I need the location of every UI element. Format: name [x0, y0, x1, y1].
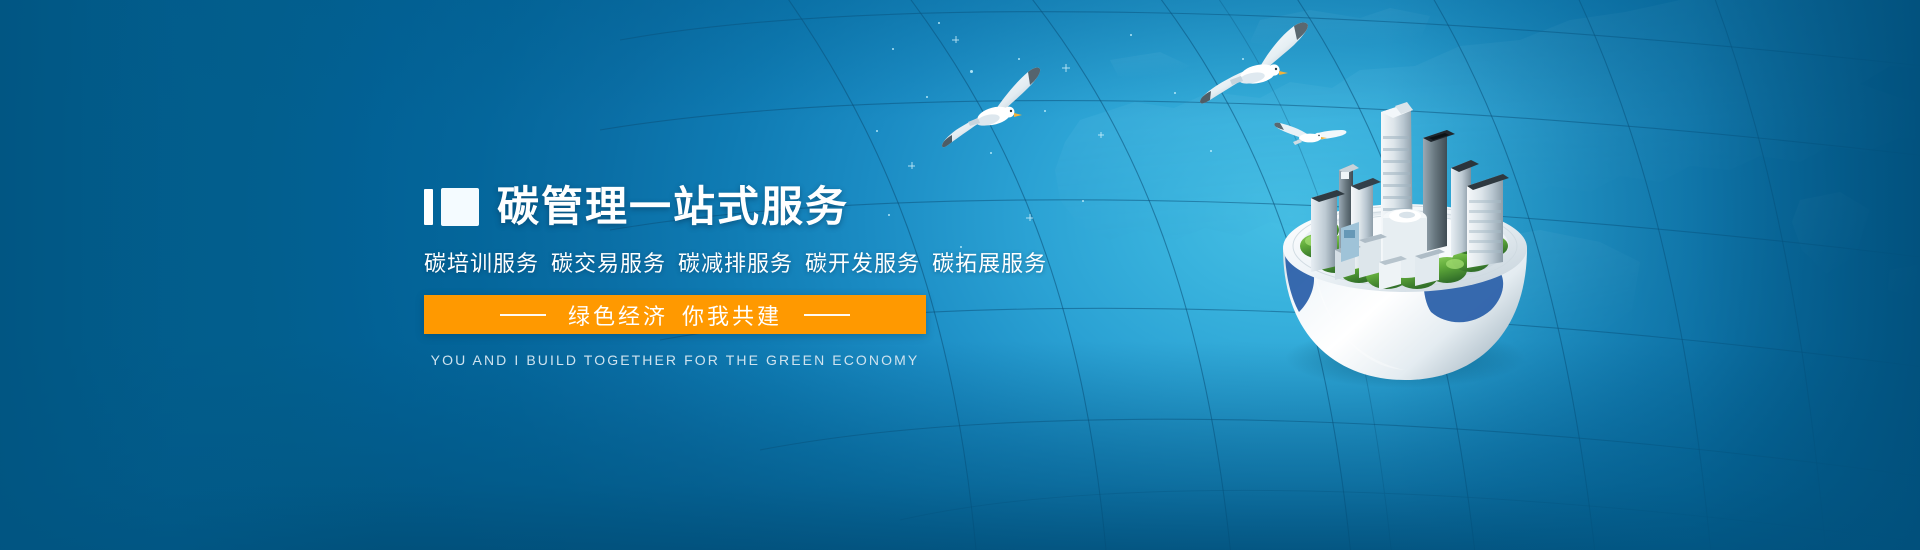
slogan-right-dash-icon [804, 314, 850, 316]
service-item: 碳培训服务 [424, 252, 539, 277]
bar-and-square-mark-icon [424, 188, 479, 226]
slogan-text: 绿色经济你我共建 [568, 299, 782, 331]
hero-banner: 碳管理一站式服务 碳培训服务碳交易服务碳减排服务碳开发服务碳拓展服务 绿色经济你… [0, 0, 1920, 550]
service-item: 碳减排服务 [678, 252, 793, 277]
service-item: 碳拓展服务 [932, 252, 1047, 277]
banner-copy: 碳管理一站式服务 碳培训服务碳交易服务碳减排服务碳开发服务碳拓展服务 绿色经济你… [424, 186, 1144, 368]
title-row: 碳管理一站式服务 [424, 186, 1144, 228]
service-item: 碳开发服务 [805, 252, 920, 277]
globe-bowl-with-city-icon [1255, 50, 1555, 400]
service-list: 碳培训服务碳交易服务碳减排服务碳开发服务碳拓展服务 [424, 246, 1144, 278]
english-tagline: YOU AND I BUILD TOGETHER FOR THE GREEN E… [424, 352, 926, 368]
slogan-text-part-1: 绿色经济 [568, 305, 668, 330]
slogan-banner: 绿色经济你我共建 [424, 295, 926, 334]
service-item: 碳交易服务 [551, 252, 666, 277]
slogan-left-dash-icon [500, 314, 546, 316]
slogan-text-part-2: 你我共建 [682, 305, 782, 330]
page-title: 碳管理一站式服务 [497, 186, 849, 228]
